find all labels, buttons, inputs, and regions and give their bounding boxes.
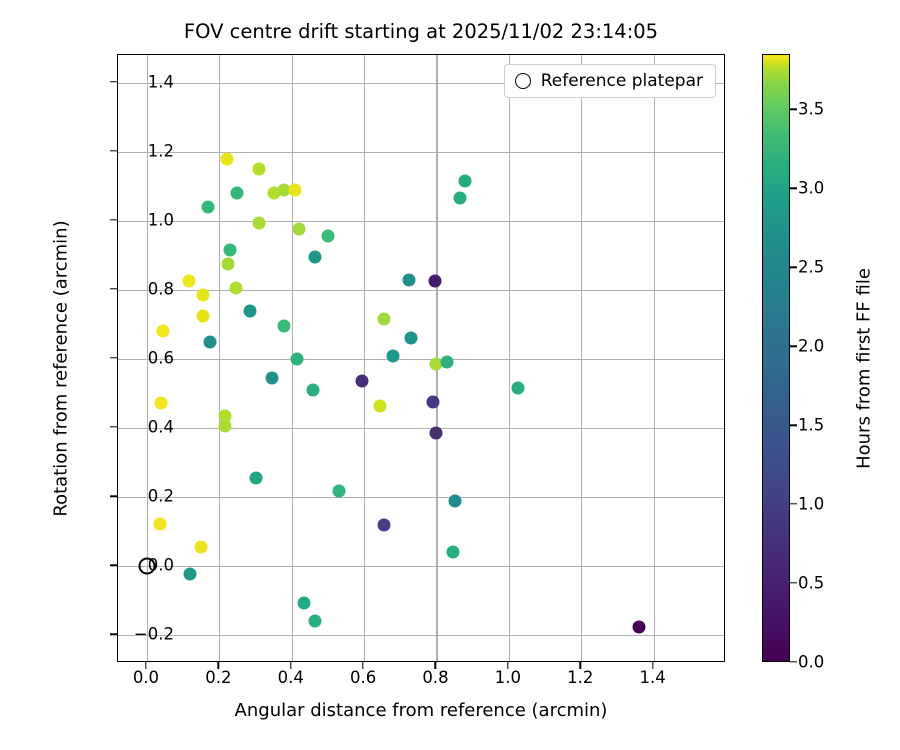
- y-axis-label: Rotation from reference (arcmin): [51, 65, 72, 673]
- gridline-horizontal: [118, 635, 724, 636]
- x-tick-mark: [145, 662, 146, 669]
- y-tick-mark: [110, 495, 117, 496]
- scatter-point: [332, 484, 345, 497]
- x-axis-label: Angular distance from reference (arcmin): [117, 700, 725, 721]
- gridline-vertical: [219, 55, 220, 661]
- x-tick-mark: [362, 662, 363, 669]
- gridline-vertical: [654, 55, 655, 661]
- scatter-point: [278, 320, 291, 333]
- gridline-horizontal: [118, 221, 724, 222]
- scatter-point: [289, 183, 302, 196]
- legend[interactable]: Reference platepar: [504, 64, 716, 98]
- scatter-point: [309, 251, 322, 264]
- scatter-point: [454, 192, 467, 205]
- colorbar: [762, 54, 790, 662]
- scatter-point: [633, 620, 646, 633]
- scatter-point: [292, 223, 305, 236]
- scatter-point: [249, 472, 262, 485]
- scatter-point: [378, 518, 391, 531]
- scatter-point: [197, 309, 210, 322]
- y-tick-label: 1.0: [148, 210, 174, 229]
- gridline-horizontal: [118, 566, 724, 567]
- scatter-point: [222, 258, 235, 271]
- gridline-horizontal: [118, 152, 724, 153]
- scatter-point: [182, 275, 195, 288]
- scatter-point: [387, 349, 400, 362]
- x-tick-mark: [218, 662, 219, 669]
- colorbar-tick-label: 2.5: [798, 258, 824, 277]
- page-title: FOV centre drift starting at 2025/11/02 …: [117, 20, 725, 43]
- scatter-point: [374, 399, 387, 412]
- legend-open-circle-icon: [515, 73, 531, 89]
- scatter-point: [155, 397, 168, 410]
- scatter-point: [428, 275, 441, 288]
- y-tick-label: 0.0: [148, 556, 174, 575]
- colorbar-tick-label: 1.5: [798, 416, 824, 435]
- scatter-point: [265, 372, 278, 385]
- x-tick-label: 0.8: [422, 668, 448, 687]
- legend-item-label: Reference platepar: [541, 71, 703, 91]
- y-tick-mark: [110, 634, 117, 635]
- x-tick-label: 1.0: [495, 668, 521, 687]
- scatter-point: [229, 282, 242, 295]
- gridline-vertical: [581, 55, 582, 661]
- colorbar-tick-label: 0.0: [798, 653, 824, 672]
- x-tick-mark: [507, 662, 508, 669]
- x-tick-mark: [580, 662, 581, 669]
- y-tick-label: 1.2: [148, 141, 174, 160]
- y-tick-label: 0.8: [148, 279, 174, 298]
- y-tick-mark: [110, 288, 117, 289]
- y-tick-mark: [110, 426, 117, 427]
- scatter-point: [403, 273, 416, 286]
- scatter-point: [441, 356, 454, 369]
- gridline-horizontal: [118, 428, 724, 429]
- y-tick-label: 0.2: [148, 487, 174, 506]
- y-tick-label: 1.4: [148, 72, 174, 91]
- scatter-point: [459, 175, 472, 188]
- scatter-point: [405, 332, 418, 345]
- scatter-point: [378, 313, 391, 326]
- scatter-point: [298, 596, 311, 609]
- colorbar-tick-mark: [790, 109, 797, 110]
- x-tick-label: 0.0: [133, 668, 159, 687]
- x-tick-label: 0.2: [205, 668, 231, 687]
- scatter-point: [218, 420, 231, 433]
- colorbar-tick-mark: [790, 661, 797, 662]
- scatter-point: [153, 518, 166, 531]
- colorbar-tick-label: 0.5: [798, 574, 824, 593]
- scatter-point: [426, 396, 439, 409]
- y-tick-mark: [110, 565, 117, 566]
- x-tick-label: 1.4: [639, 668, 665, 687]
- x-tick-mark: [290, 662, 291, 669]
- colorbar-tick-mark: [790, 188, 797, 189]
- figure-canvas: FOV centre drift starting at 2025/11/02 …: [0, 0, 900, 750]
- scatter-point: [220, 152, 233, 165]
- scatter-point: [307, 384, 320, 397]
- gridline-vertical: [364, 55, 365, 661]
- x-tick-label: 0.4: [278, 668, 304, 687]
- y-tick-label: 0.4: [148, 418, 174, 437]
- y-tick-mark: [110, 219, 117, 220]
- x-tick-mark: [652, 662, 653, 669]
- scatter-point: [224, 244, 237, 257]
- scatter-point: [197, 289, 210, 302]
- scatter-point: [309, 614, 322, 627]
- scatter-point: [244, 304, 257, 317]
- scatter-point: [157, 325, 170, 338]
- scatter-point: [446, 545, 459, 558]
- x-tick-mark: [435, 662, 436, 669]
- colorbar-tick-label: 2.0: [798, 337, 824, 356]
- scatter-point: [253, 216, 266, 229]
- colorbar-tick-label: 1.0: [798, 495, 824, 514]
- y-tick-mark: [110, 150, 117, 151]
- plot-area: Reference platepar: [117, 54, 725, 662]
- scatter-point: [195, 541, 208, 554]
- colorbar-tick-mark: [790, 582, 797, 583]
- scatter-point: [321, 230, 334, 243]
- scatter-point: [184, 567, 197, 580]
- colorbar-tick-mark: [790, 345, 797, 346]
- scatter-point: [430, 427, 443, 440]
- scatter-point: [253, 163, 266, 176]
- gridline-vertical: [509, 55, 510, 661]
- colorbar-label: Hours from first FF file: [854, 65, 875, 673]
- x-tick-label: 1.2: [567, 668, 593, 687]
- colorbar-tick-label: 3.5: [798, 100, 824, 119]
- gridline-horizontal: [118, 290, 724, 291]
- gridline-horizontal: [118, 359, 724, 360]
- scatter-point: [202, 201, 215, 214]
- scatter-point: [511, 382, 524, 395]
- scatter-point: [448, 494, 461, 507]
- colorbar-tick-mark: [790, 424, 797, 425]
- colorbar-tick-mark: [790, 266, 797, 267]
- scatter-point: [231, 187, 244, 200]
- colorbar-tick-label: 3.0: [798, 179, 824, 198]
- scatter-point: [291, 353, 304, 366]
- y-tick-mark: [110, 357, 117, 358]
- y-tick-label: −0.2: [134, 625, 174, 644]
- scatter-point: [356, 375, 369, 388]
- y-tick-label: 0.6: [148, 349, 174, 368]
- x-tick-label: 0.6: [350, 668, 376, 687]
- colorbar-tick-mark: [790, 503, 797, 504]
- y-tick-mark: [110, 81, 117, 82]
- scatter-point: [204, 335, 217, 348]
- gridline-horizontal: [118, 497, 724, 498]
